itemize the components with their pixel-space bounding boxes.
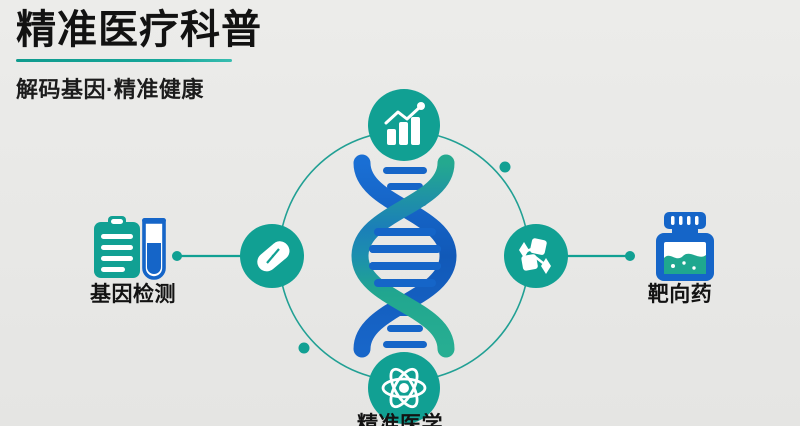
side-label-gene-test: 基因检测 bbox=[72, 278, 194, 308]
slide-canvas: 精准医疗科普 解码基因·精准健康 bbox=[0, 0, 800, 426]
dna-double-helix-icon bbox=[360, 163, 448, 349]
connector-right bbox=[568, 251, 635, 261]
orbit-dot-north-east bbox=[500, 162, 511, 173]
diagram-svg bbox=[0, 0, 800, 426]
bottom-node-label: 精准医学 bbox=[310, 408, 490, 426]
clipboard-test-tube-icon bbox=[94, 216, 166, 278]
connector-dot-right bbox=[625, 251, 635, 261]
connector-left bbox=[172, 251, 241, 261]
diagram-stage bbox=[0, 0, 800, 426]
connector-dot-left bbox=[172, 251, 182, 261]
orbit-node-top[interactable] bbox=[368, 89, 440, 161]
orbit-node-right[interactable] bbox=[504, 224, 568, 288]
orbit-dot-south-west bbox=[299, 343, 310, 354]
medicine-bottle-icon bbox=[656, 212, 714, 281]
side-label-targeted-drug: 靶向药 bbox=[622, 278, 738, 308]
orbit-node-left[interactable] bbox=[240, 224, 304, 288]
